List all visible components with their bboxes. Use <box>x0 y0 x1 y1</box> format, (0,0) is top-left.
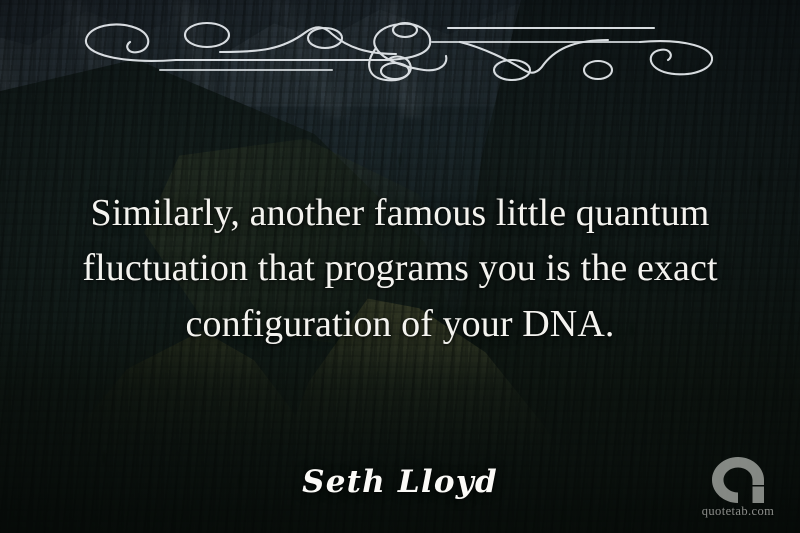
ornament-flourish <box>80 8 720 84</box>
quote-author: Seth Lloyd <box>140 464 660 500</box>
quotetab-q-logo-icon <box>690 455 786 503</box>
watermark-site-label: quotetab.com <box>690 504 786 519</box>
quote-card: Similarly, another famous little quantum… <box>0 0 800 533</box>
quote-text: Similarly, another famous little quantum… <box>50 186 750 352</box>
site-watermark[interactable]: quotetab.com <box>690 455 786 525</box>
card-content: Similarly, another famous little quantum… <box>0 0 800 533</box>
flourish-icon <box>80 8 720 84</box>
